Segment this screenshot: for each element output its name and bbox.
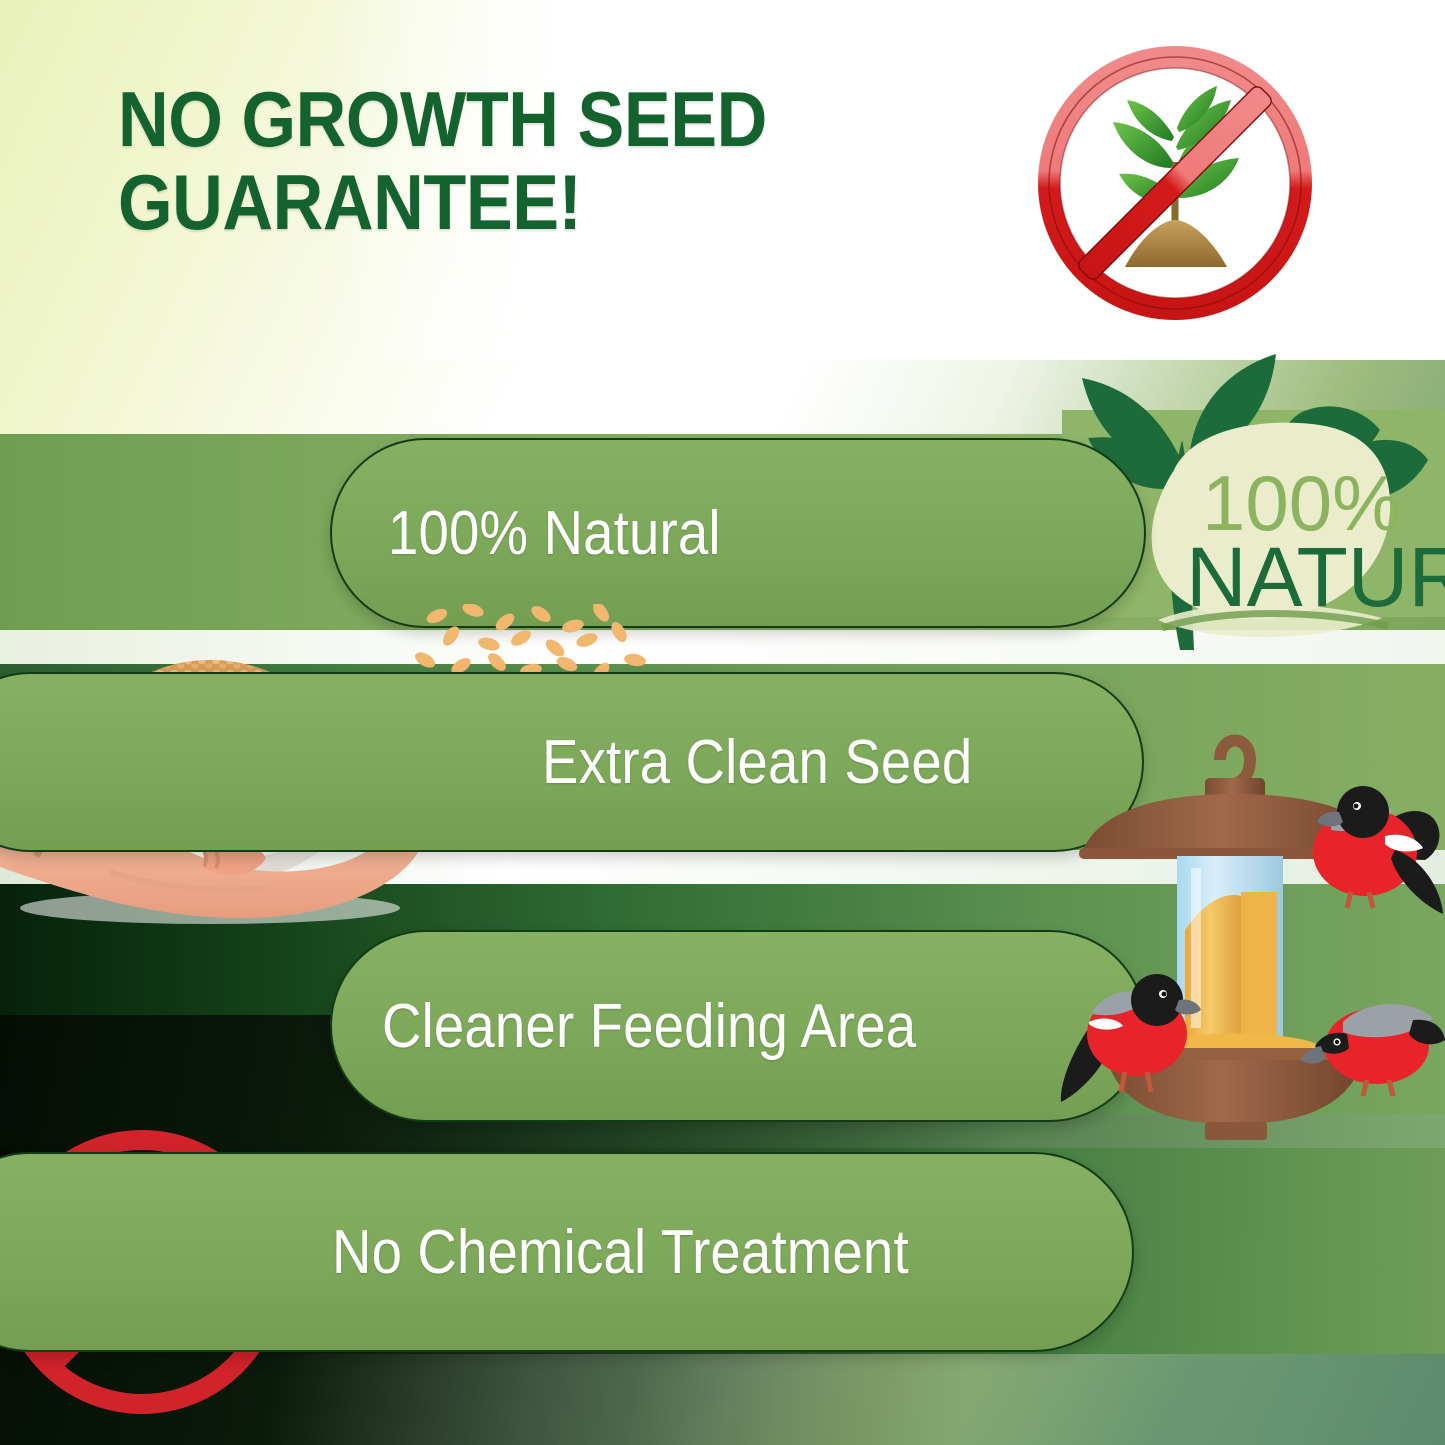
page-title: NO GROWTH SEED GUARANTEE! [118,78,892,243]
bird-feeder-with-bullfinches [1045,700,1445,1140]
feature-label-natural: 100% Natural [388,498,721,569]
page-title-line-2: GUARANTEE! [118,161,892,244]
feature-pill-natural[interactable]: 100% Natural [330,438,1146,628]
badge-natural-text: NATURAL [1186,530,1445,624]
feature-label-cleaner-feeding-area: Cleaner Feeding Area [382,991,916,1062]
feature-pill-no-chemical-treatment[interactable]: No Chemical Treatment [0,1152,1134,1352]
no-growth-plant-badge [1035,42,1315,324]
feature-label-extra-clean-seed: Extra Clean Seed [542,727,972,798]
feature-label-no-chemical-treatment: No Chemical Treatment [332,1217,909,1288]
product-feature-poster: NO GROWTH SEED GUARANTEE! [0,0,1445,1445]
feature-pill-cleaner-feeding-area[interactable]: Cleaner Feeding Area [330,930,1146,1122]
prohibition-ring [1049,57,1301,309]
no-growth-plant-icon [1035,42,1315,324]
bird-feeder-graphic [1045,700,1445,1140]
bullfinch-top [1313,786,1443,914]
feature-pill-extra-clean-seed[interactable]: Extra Clean Seed [0,672,1144,852]
page-title-line-1: NO GROWTH SEED [118,78,892,161]
